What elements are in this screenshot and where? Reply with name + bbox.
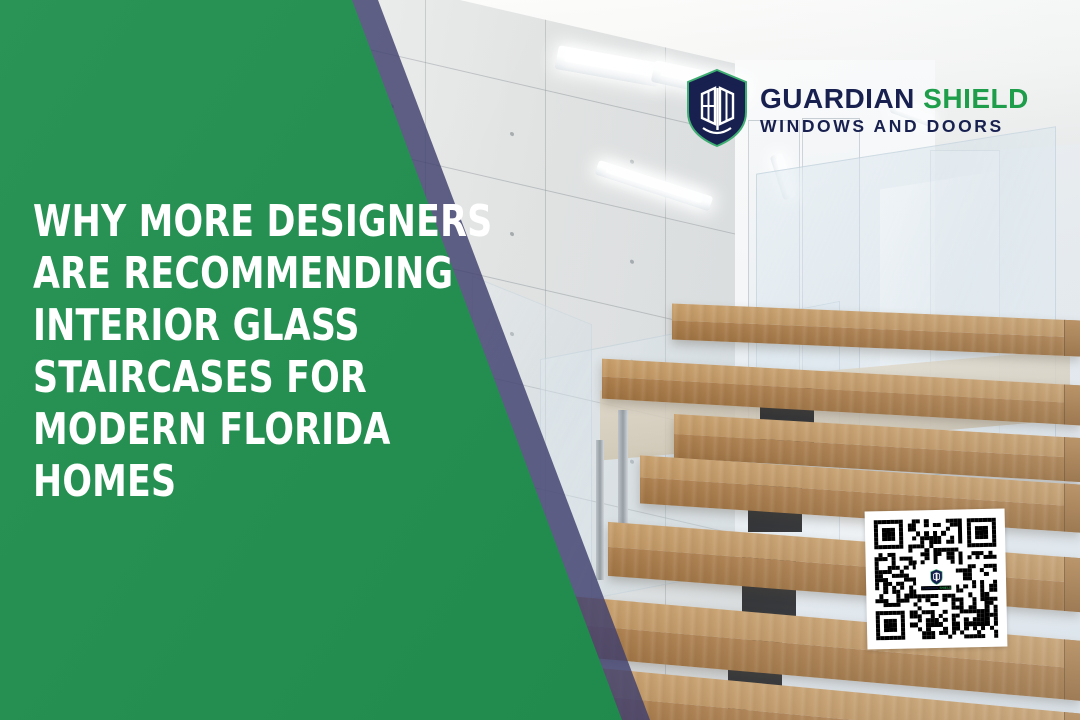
brand-name-line: GUARDIAN SHIELD <box>760 85 1029 113</box>
page-title: WHY MORE DESIGNERS ARE RECOMMENDING INTE… <box>33 196 385 508</box>
brand-word-guardian: GUARDIAN <box>760 83 915 114</box>
headline-line-3: INTERIOR GLASS <box>33 300 385 352</box>
qr-center-text: GUARDIAN SHIELD <box>921 585 951 590</box>
headline-line-1: WHY MORE DESIGNERS <box>33 196 385 248</box>
blog-header-banner: WHY MORE DESIGNERS ARE RECOMMENDING INTE… <box>0 0 1080 720</box>
qr-center-word-2: SHIELD <box>939 585 951 589</box>
brand-wordmark: GUARDIAN SHIELD WINDOWS AND DOORS <box>760 81 1029 136</box>
headline-line-5: MODERN FLORIDA <box>33 404 385 456</box>
brand-logo[interactable]: GUARDIAN SHIELD WINDOWS AND DOORS <box>684 68 1029 148</box>
brand-word-shield: SHIELD <box>923 83 1029 114</box>
qr-shield-icon <box>929 568 942 584</box>
headline-line-2: ARE RECOMMENDING <box>33 248 385 300</box>
guardian-shield-emblem-icon <box>684 68 750 148</box>
qr-code[interactable]: GUARDIAN SHIELD <box>865 509 1008 650</box>
headline-line-4: STAIRCASES FOR <box>33 352 385 404</box>
brand-tagline: WINDOWS AND DOORS <box>760 118 1029 136</box>
qr-code-matrix: GUARDIAN SHIELD <box>874 518 998 641</box>
headline-line-6: HOMES <box>33 456 385 508</box>
qr-center-word-1: GUARDIAN <box>921 585 939 589</box>
qr-center-logo: GUARDIAN SHIELD <box>916 564 957 595</box>
